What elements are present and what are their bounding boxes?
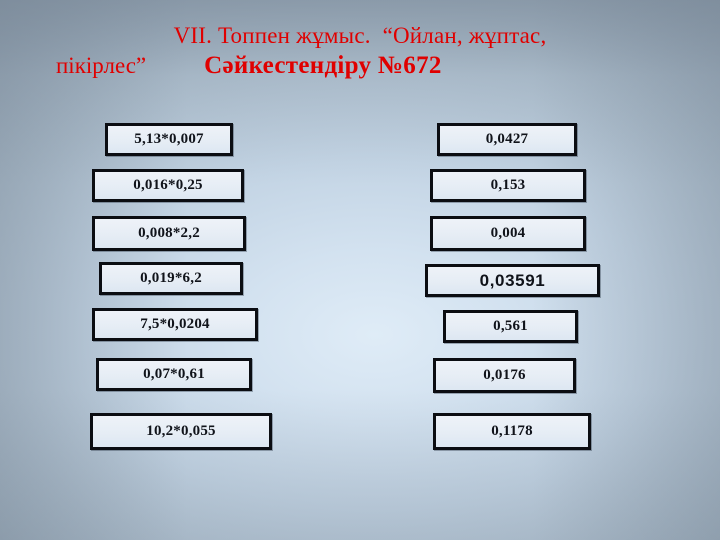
expression-box-2[interactable]: 0,016*0,25 <box>92 169 244 202</box>
slide-canvas: VII. Топпен жұмыс. “Ойлан, жұптас, пікір… <box>0 0 720 540</box>
answer-box-6[interactable]: 0,0176 <box>433 358 576 393</box>
title-line-2-prefix: пікірлес” <box>56 53 146 78</box>
expression-box-7[interactable]: 10,2*0,055 <box>90 413 272 450</box>
answer-box-2[interactable]: 0,153 <box>430 169 586 202</box>
expression-box-4[interactable]: 0,019*6,2 <box>99 262 243 295</box>
title-accent-matching: Сәйкестендіру №672 <box>204 52 442 79</box>
expression-box-5[interactable]: 7,5*0,0204 <box>92 308 258 341</box>
answer-box-7[interactable]: 0,1178 <box>433 413 591 450</box>
answer-box-3[interactable]: 0,004 <box>430 216 586 251</box>
title-line-2: пікірлес”Сәйкестендіру №672 <box>0 51 720 82</box>
expression-box-3[interactable]: 0,008*2,2 <box>92 216 246 251</box>
answer-box-5[interactable]: 0,561 <box>443 310 578 343</box>
title-line-1: VII. Топпен жұмыс. “Ойлан, жұптас, <box>0 22 720 50</box>
answer-box-1[interactable]: 0,0427 <box>437 123 577 156</box>
slide-title: VII. Топпен жұмыс. “Ойлан, жұптас, пікір… <box>0 22 720 82</box>
expression-box-6[interactable]: 0,07*0,61 <box>96 358 252 391</box>
answer-box-4[interactable]: 0,03591 <box>425 264 600 297</box>
expression-box-1[interactable]: 5,13*0,007 <box>105 123 233 156</box>
